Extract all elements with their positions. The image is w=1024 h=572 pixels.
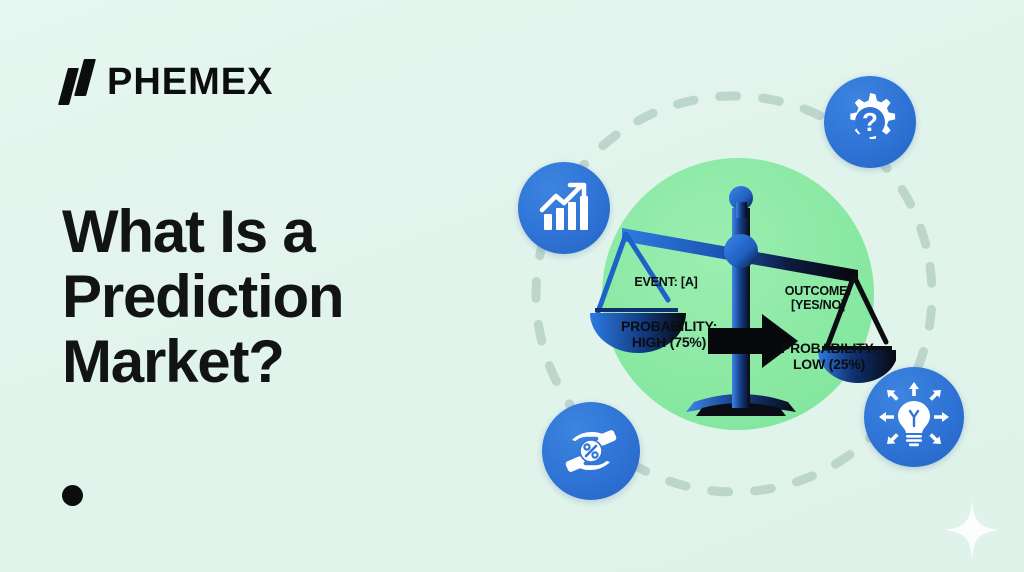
decorative-bullet-dot bbox=[62, 485, 83, 506]
label-probability-high-line1: PROBABILITY: bbox=[594, 319, 744, 335]
lightbulb-idea-arrows-icon bbox=[864, 367, 964, 467]
headline-line-2: Prediction bbox=[62, 265, 502, 330]
svg-text:?: ? bbox=[862, 107, 878, 137]
brand-name: PHEMEX bbox=[107, 63, 273, 101]
gear-question-mark-icon: ? bbox=[824, 76, 916, 168]
label-outcome-line2: [YES/NO] bbox=[758, 298, 878, 312]
label-probability-low-line1: PROBABILITY: bbox=[754, 341, 904, 357]
label-probability-high-line2: HIGH (75%) bbox=[594, 335, 744, 351]
bar-chart-growth-icon bbox=[518, 162, 610, 254]
phemex-logo[interactable]: PHEMEX bbox=[62, 58, 273, 106]
page-title: What Is a Prediction Market? bbox=[62, 200, 502, 394]
label-outcome: OUTCOME: [YES/NO] bbox=[758, 284, 878, 312]
headline-line-1: What Is a bbox=[62, 200, 502, 265]
label-probability-high: PROBABILITY: HIGH (75%) bbox=[594, 319, 744, 350]
sparkle-star-icon bbox=[944, 500, 1000, 560]
label-event: EVENT: [A] bbox=[606, 275, 726, 289]
headline-line-3: Market? bbox=[62, 330, 502, 395]
label-probability-low-line2: LOW (25%) bbox=[754, 357, 904, 373]
hands-holding-percent-coin-icon bbox=[542, 402, 640, 500]
phemex-slash-mark-icon bbox=[62, 59, 98, 105]
poster-canvas: PHEMEX What Is a Prediction Market? bbox=[0, 0, 1024, 572]
illustration-cluster: EVENT: [A] PROBABILITY: HIGH (75%) OUTCO… bbox=[506, 62, 1006, 532]
label-probability-low: PROBABILITY: LOW (25%) bbox=[754, 341, 904, 372]
label-outcome-line1: OUTCOME: bbox=[758, 284, 878, 298]
